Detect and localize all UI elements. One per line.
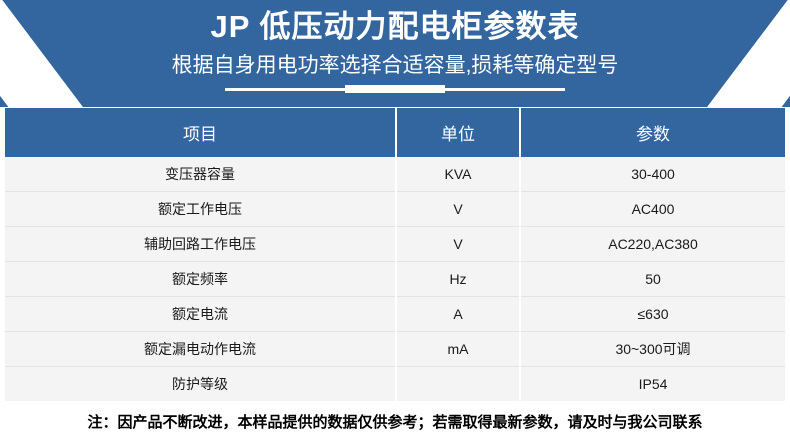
cell-unit: KVA (396, 157, 520, 192)
parameter-spec-sheet: JP 低压动力配电柜参数表 根据自身用电功率选择合适容量,损耗等确定型号 项目 … (0, 0, 790, 439)
cell-value: 30-400 (520, 157, 785, 192)
table-row: 额定工作电压 V AC400 (5, 192, 785, 227)
column-header-value: 参数 (520, 108, 785, 157)
table-row: 额定漏电动作电流 mA 30~300可调 (5, 332, 785, 367)
table-row: 额定电流 A ≤630 (5, 297, 785, 332)
title-divider (0, 85, 790, 95)
cell-value: ≤630 (520, 297, 785, 332)
title-divider-center (345, 85, 445, 93)
column-header-item: 项目 (5, 108, 396, 157)
cell-value: IP54 (520, 367, 785, 402)
cell-item: 防护等级 (5, 367, 396, 402)
cell-unit: mA (396, 332, 520, 367)
cell-item: 额定工作电压 (5, 192, 396, 227)
cell-unit: Hz (396, 262, 520, 297)
spec-table-body: 变压器容量 KVA 30-400 额定工作电压 V AC400 辅助回路工作电压… (5, 157, 785, 401)
cell-value: 50 (520, 262, 785, 297)
page-subtitle: 根据自身用电功率选择合适容量,损耗等确定型号 (0, 52, 790, 80)
cell-item: 变压器容量 (5, 157, 396, 192)
header-banner: JP 低压动力配电柜参数表 根据自身用电功率选择合适容量,损耗等确定型号 (0, 0, 790, 107)
table-header-row: 项目 单位 参数 (5, 108, 785, 157)
cell-item: 额定电流 (5, 297, 396, 332)
table-row: 辅助回路工作电压 V AC220,AC380 (5, 227, 785, 262)
table-row: 防护等级 IP54 (5, 367, 785, 402)
cell-unit: V (396, 227, 520, 262)
cell-item: 额定漏电动作电流 (5, 332, 396, 367)
cell-value: AC220,AC380 (520, 227, 785, 262)
cell-value: AC400 (520, 192, 785, 227)
cell-unit: A (396, 297, 520, 332)
cell-unit: V (396, 192, 520, 227)
cell-item: 额定频率 (5, 262, 396, 297)
cell-item: 辅助回路工作电压 (5, 227, 396, 262)
spec-table-head: 项目 单位 参数 (5, 108, 785, 157)
column-header-unit: 单位 (396, 108, 520, 157)
table-row: 变压器容量 KVA 30-400 (5, 157, 785, 192)
table-row: 额定频率 Hz 50 (5, 262, 785, 297)
cell-value: 30~300可调 (520, 332, 785, 367)
spec-table: 项目 单位 参数 变压器容量 KVA 30-400 额定工作电压 V AC400… (5, 108, 785, 401)
cell-unit (396, 367, 520, 402)
page-title: JP 低压动力配电柜参数表 (0, 8, 790, 46)
footer-note: 注：因产品不断改进，本样品提供的数据仅供参考；若需取得最新参数，请及时与我公司联… (0, 403, 790, 439)
